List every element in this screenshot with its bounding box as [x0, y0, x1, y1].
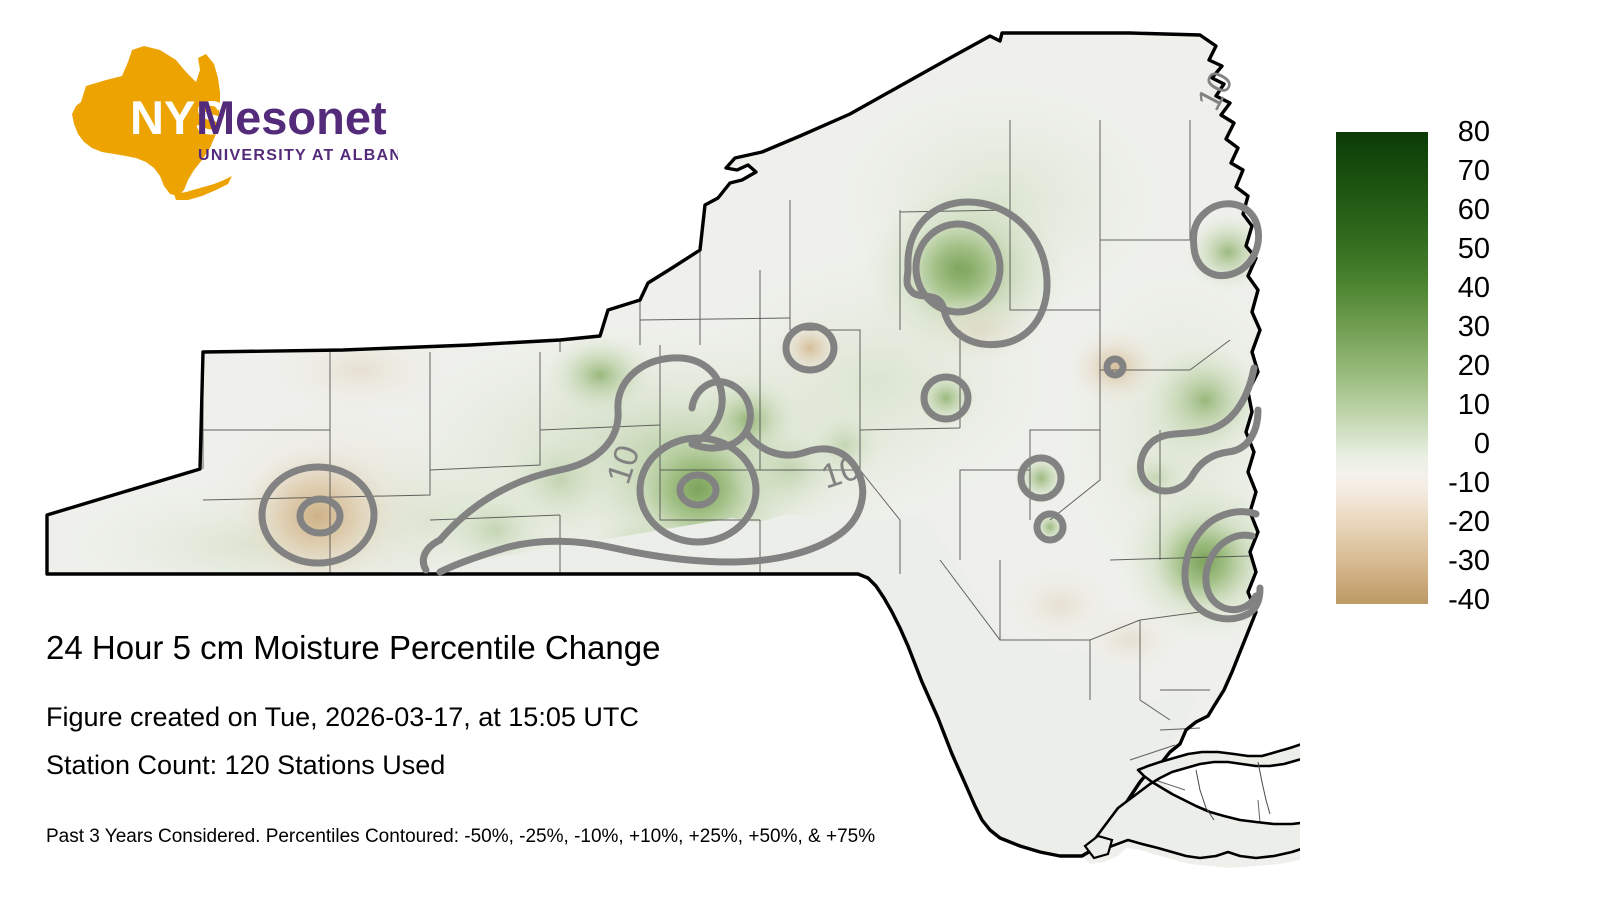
colorbar-tick-0: 0	[1428, 430, 1490, 459]
colorbar-tick-20: 20	[1428, 352, 1490, 381]
colorbar-tick-neg10: -10	[1428, 469, 1490, 498]
colorbar-tick-30: 30	[1428, 313, 1490, 342]
logo-mesonet-text: Mesonet	[196, 91, 387, 144]
logo-subtitle-text: UNIVERSITY AT ALBANY	[198, 147, 398, 164]
colorbar-tick-neg20: -20	[1428, 508, 1490, 537]
colorbar-tick-70: 70	[1428, 157, 1490, 186]
station-count-label: Station Count: 120 Stations Used	[46, 748, 445, 782]
colorbar-tick-40: 40	[1428, 274, 1490, 303]
figure-footnote: Past 3 Years Considered. Percentiles Con…	[46, 825, 875, 849]
colorbar	[1336, 132, 1428, 604]
colorbar-tick-labels: 80 70 60 50 40 30 20 10 0 -10 -20 -30 -4…	[1428, 132, 1548, 604]
colorbar-tick-80: 80	[1428, 118, 1490, 147]
colorbar-tick-60: 60	[1428, 196, 1490, 225]
figure-created-timestamp: Figure created on Tue, 2026-03-17, at 15…	[46, 700, 639, 734]
colorbar-tick-neg40: -40	[1428, 586, 1490, 615]
nys-mesonet-logo: NYS Mesonet UNIVERSITY AT ALBANY	[48, 44, 398, 204]
colorbar-gradient	[1336, 132, 1428, 604]
colorbar-tick-50: 50	[1428, 235, 1490, 264]
figure-title: 24 Hour 5 cm Moisture Percentile Change	[46, 628, 660, 668]
colorbar-tick-neg30: -30	[1428, 547, 1490, 576]
colorbar-tick-10: 10	[1428, 391, 1490, 420]
